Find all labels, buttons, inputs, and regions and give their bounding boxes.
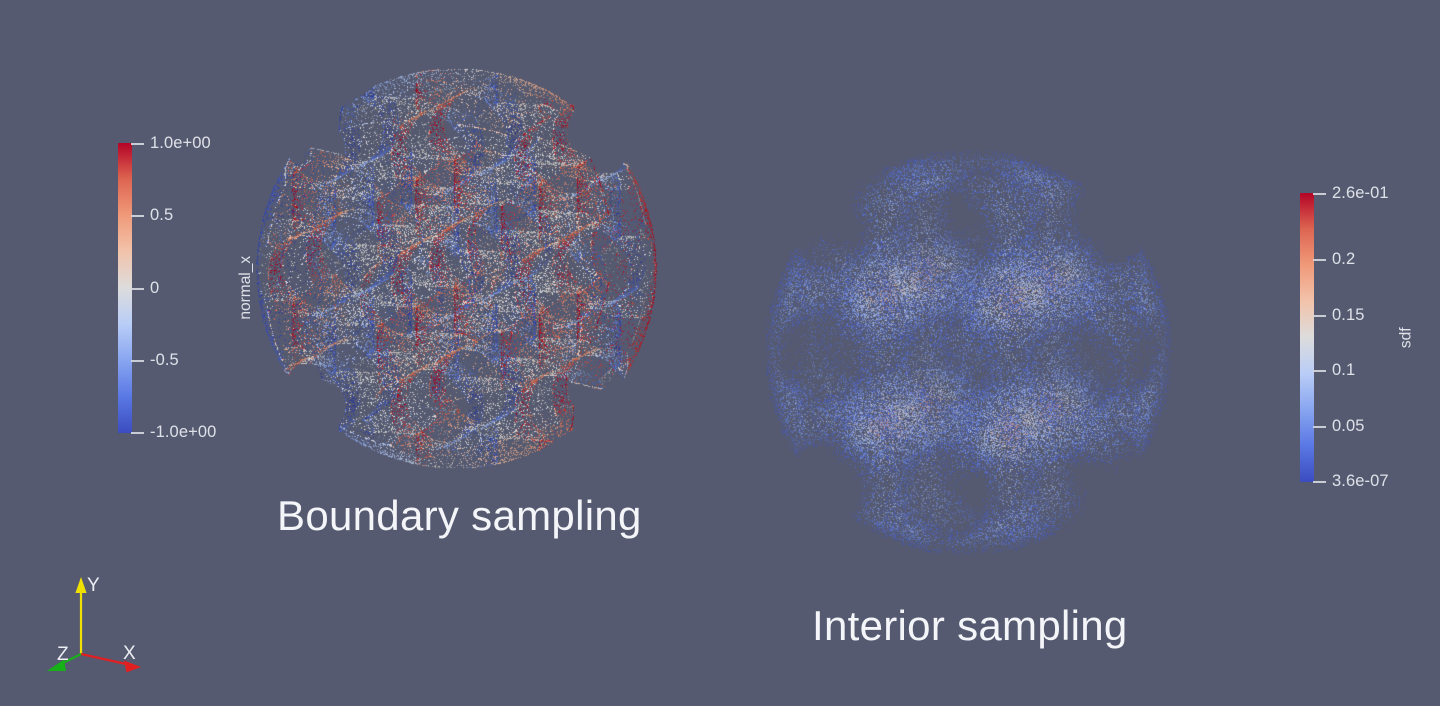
scalar-bar-tick-mark [1313,259,1326,261]
scalar-bar-tick-mark [131,288,144,290]
scalar-bar-tick-label: 0.15 [1332,307,1365,324]
scalar-bar-tick-label: 2.6e-01 [1332,185,1389,202]
interior-sampling-point-cloud[interactable] [740,130,1220,590]
orientation-axes-widget[interactable]: Y X Z [20,560,170,690]
scalar-bar-title-normal-x: normal_x [238,256,254,320]
scalar-bar-tick-label: 3.6e-07 [1332,473,1389,490]
scalar-bar-title-sdf: sdf [1399,327,1415,348]
scalar-bar-tick-mark [131,143,144,145]
scalar-bar-tick-label: 0.2 [1332,251,1355,268]
axis-label-y: Y [87,575,100,596]
scalar-bar-tick-mark [1313,370,1326,372]
axis-y-icon [75,577,86,654]
scalar-bar-tick-label: 0 [150,280,159,297]
scalar-bar-tick-mark [131,432,144,434]
scalar-bar-sdf[interactable]: 2.6e-010.20.150.10.053.6e-07 sdf [1300,193,1420,482]
axis-label-z: Z [57,644,69,665]
scalar-bar-tick-mark [131,360,144,362]
scalar-bar-tick-label: 0.05 [1332,418,1365,435]
scalar-bar-gradient-normal-x [118,143,132,433]
scalar-bar-tick-label: -1.0e+00 [150,424,216,441]
scalar-bar-tick-mark [1313,426,1326,428]
scalar-bar-tick-label: 0.1 [1332,362,1355,379]
scalar-bar-tick-mark [1313,193,1326,195]
scalar-bar-tick-label: 0.5 [150,207,173,224]
boundary-sampling-point-cloud[interactable] [236,38,686,508]
visualization-canvas[interactable]: 1.0e+000.50-0.5-1.0e+00 normal_x 2.6e-01… [0,0,1440,706]
caption-boundary-sampling: Boundary sampling [277,490,642,542]
scalar-bar-tick-mark [1313,481,1326,483]
scalar-bar-tick-label: 1.0e+00 [150,135,211,152]
scalar-bar-normal-x[interactable]: 1.0e+000.50-0.5-1.0e+00 normal_x [118,143,238,433]
scalar-bar-tick-mark [1313,315,1326,317]
caption-interior-sampling: Interior sampling [812,600,1128,652]
scalar-bar-gradient-sdf [1300,193,1314,482]
axis-label-x: X [123,643,136,664]
scalar-bar-tick-mark [131,215,144,217]
scalar-bar-tick-label: -0.5 [150,352,179,369]
